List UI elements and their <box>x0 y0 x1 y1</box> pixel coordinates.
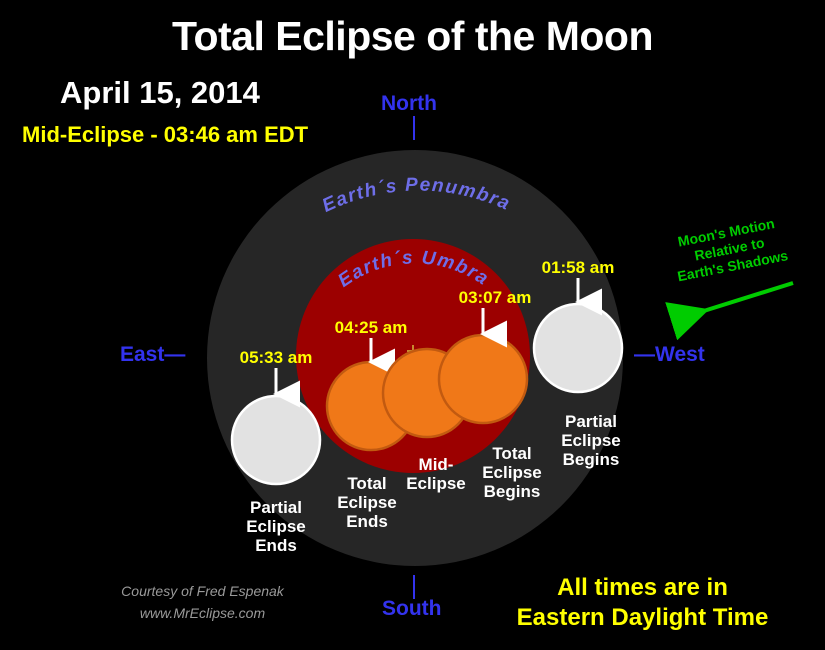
credit-website[interactable]: www.MrEclipse.com <box>95 602 310 624</box>
motion-arrow-layer <box>0 0 825 650</box>
credit-block: Courtesy of Fred Espenak www.MrEclipse.c… <box>95 580 310 624</box>
moon-motion-arrow-icon <box>675 283 793 320</box>
credit-author: Courtesy of Fred Espenak <box>95 580 310 602</box>
timezone-note: All times are in Eastern Daylight Time <box>470 573 815 633</box>
eclipse-diagram: Earth´s Penumbra Earth´s Umbra 05:33 amP… <box>0 0 825 650</box>
timezone-line-1: All times are in <box>470 573 815 603</box>
timezone-line-2: Eastern Daylight Time <box>470 603 815 633</box>
